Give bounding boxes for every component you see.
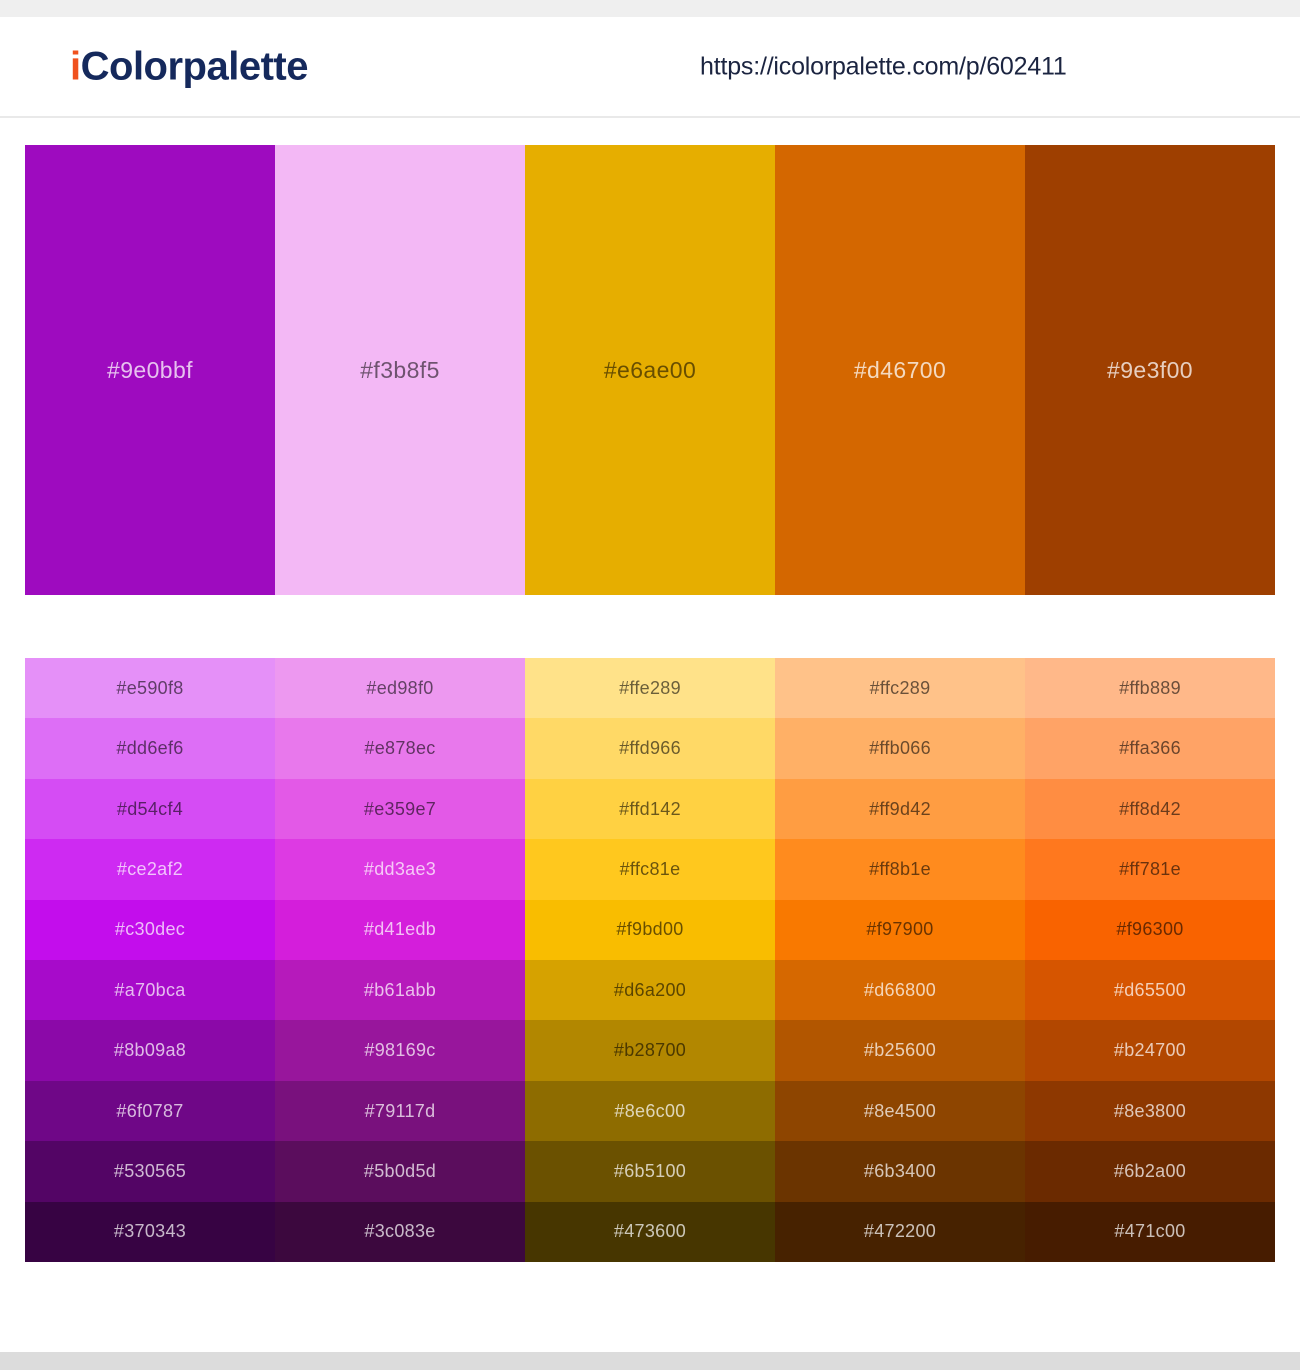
shade-column: #ffb889#ffa366#ff8d42#ff781e#f96300#d655… [1025,658,1275,1262]
shade-swatch[interactable]: #6b3400 [775,1141,1025,1201]
shade-hex-label: #d41edb [364,919,436,940]
shade-hex-label: #530565 [114,1161,186,1182]
shade-hex-label: #dd3ae3 [364,859,436,880]
shade-swatch[interactable]: #8b09a8 [25,1020,275,1080]
shade-hex-label: #ed98f0 [366,678,433,699]
shade-swatch[interactable]: #ffb066 [775,718,1025,778]
shade-swatch[interactable]: #e590f8 [25,658,275,718]
shade-swatch[interactable]: #d65500 [1025,960,1275,1020]
shade-hex-label: #8e3800 [1114,1101,1186,1122]
main-palette-swatches: #9e0bbf#f3b8f5#e6ae00#d46700#9e3f00 [25,145,1275,595]
shade-swatch[interactable]: #ff9d42 [775,779,1025,839]
shade-swatch[interactable]: #b61abb [275,960,525,1020]
shade-hex-label: #b24700 [1114,1040,1186,1061]
shade-hex-label: #ffb066 [869,738,931,759]
shade-column: #ffe289#ffd966#ffd142#ffc81e#f9bd00#d6a2… [525,658,775,1262]
shade-hex-label: #471c00 [1114,1221,1185,1242]
shade-hex-label: #f97900 [866,919,933,940]
shade-swatch[interactable]: #ce2af2 [25,839,275,899]
shade-swatch[interactable]: #ff8b1e [775,839,1025,899]
main-swatch-hex-label: #d46700 [854,357,946,384]
shade-column: #ffc289#ffb066#ff9d42#ff8b1e#f97900#d668… [775,658,1025,1262]
shade-hex-label: #6b2a00 [1114,1161,1186,1182]
shade-hex-label: #ffd142 [619,799,681,820]
shade-hex-label: #d6a200 [614,980,686,1001]
shade-hex-label: #ffb889 [1119,678,1181,699]
shade-swatch[interactable]: #f97900 [775,900,1025,960]
shade-hex-label: #d65500 [1114,980,1186,1001]
shade-swatch[interactable]: #dd3ae3 [275,839,525,899]
shade-swatch[interactable]: #473600 [525,1202,775,1262]
shade-hex-label: #ff8d42 [1119,799,1181,820]
shade-hex-label: #370343 [114,1221,186,1242]
shade-swatch[interactable]: #a70bca [25,960,275,1020]
logo-text: Colorpalette [81,44,308,88]
main-swatch-hex-label: #9e0bbf [107,357,193,384]
shade-hex-label: #d66800 [864,980,936,1001]
shade-swatch[interactable]: #370343 [25,1202,275,1262]
shade-swatch[interactable]: #ffc289 [775,658,1025,718]
shade-hex-label: #b28700 [614,1040,686,1061]
shade-hex-label: #ff781e [1119,859,1181,880]
shade-swatch[interactable]: #dd6ef6 [25,718,275,778]
shade-hex-label: #8e4500 [864,1101,936,1122]
shade-hex-label: #ce2af2 [117,859,183,880]
shade-swatch[interactable]: #8e3800 [1025,1081,1275,1141]
shade-swatch[interactable]: #ffd966 [525,718,775,778]
shade-swatch[interactable]: #ffa366 [1025,718,1275,778]
shade-swatch[interactable]: #98169c [275,1020,525,1080]
shade-hex-label: #ffc289 [870,678,931,699]
shade-hex-label: #6b5100 [614,1161,686,1182]
shade-hex-label: #dd6ef6 [116,738,183,759]
shade-swatch[interactable]: #471c00 [1025,1202,1275,1262]
shade-swatch[interactable]: #b24700 [1025,1020,1275,1080]
shade-hex-label: #a70bca [114,980,185,1001]
shade-swatch[interactable]: #b28700 [525,1020,775,1080]
shade-swatch[interactable]: #d6a200 [525,960,775,1020]
shade-swatch[interactable]: #6f0787 [25,1081,275,1141]
shade-swatch[interactable]: #e878ec [275,718,525,778]
shade-hex-label: #d54cf4 [117,799,183,820]
shade-swatch[interactable]: #5b0d5d [275,1141,525,1201]
shade-swatch[interactable]: #f96300 [1025,900,1275,960]
shade-swatch[interactable]: #ff8d42 [1025,779,1275,839]
shade-hex-label: #79117d [365,1101,436,1122]
shade-swatch[interactable]: #e359e7 [275,779,525,839]
shade-swatch[interactable]: #d54cf4 [25,779,275,839]
shade-column: #ed98f0#e878ec#e359e7#dd3ae3#d41edb#b61a… [275,658,525,1262]
shade-hex-label: #ff9d42 [869,799,931,820]
main-swatch[interactable]: #d46700 [775,145,1025,595]
shade-hex-label: #ffa366 [1119,738,1181,759]
shade-swatch[interactable]: #ffd142 [525,779,775,839]
shade-hex-label: #3c083e [364,1221,435,1242]
shade-hex-label: #b25600 [864,1040,936,1061]
shade-swatch[interactable]: #6b2a00 [1025,1141,1275,1201]
shade-swatch[interactable]: #79117d [275,1081,525,1141]
shade-swatch[interactable]: #ffb889 [1025,658,1275,718]
shade-hex-label: #8b09a8 [114,1040,186,1061]
shade-swatch[interactable]: #d41edb [275,900,525,960]
shade-column: #e590f8#dd6ef6#d54cf4#ce2af2#c30dec#a70b… [25,658,275,1262]
shade-swatch[interactable]: #8e4500 [775,1081,1025,1141]
bottom-decorative-strip [0,1352,1300,1370]
shade-swatch[interactable]: #b25600 [775,1020,1025,1080]
shade-hex-label: #473600 [614,1221,686,1242]
logo-accent-letter: i [70,44,81,88]
palette-url: https://icolorpalette.com/p/602411 [700,52,1067,81]
shade-hex-label: #98169c [364,1040,435,1061]
shade-swatch[interactable]: #c30dec [25,900,275,960]
shade-hex-label: #e359e7 [364,799,436,820]
shade-hex-label: #ff8b1e [869,859,931,880]
main-swatch[interactable]: #9e3f00 [1025,145,1275,595]
shade-swatch[interactable]: #ff781e [1025,839,1275,899]
shade-hex-label: #f96300 [1116,919,1183,940]
main-swatch[interactable]: #9e0bbf [25,145,275,595]
shade-swatch[interactable]: #ffc81e [525,839,775,899]
shade-hex-label: #8e6c00 [614,1101,685,1122]
top-decorative-strip [0,0,1300,17]
site-header: iColorpalette https://icolorpalette.com/… [0,17,1300,118]
shade-swatch[interactable]: #8e6c00 [525,1081,775,1141]
shade-hex-label: #ffc81e [620,859,681,880]
shade-swatch[interactable]: #6b5100 [525,1141,775,1201]
shade-hex-label: #5b0d5d [364,1161,436,1182]
shade-swatch[interactable]: #530565 [25,1141,275,1201]
shades-grid: #e590f8#dd6ef6#d54cf4#ce2af2#c30dec#a70b… [25,658,1275,1262]
shade-hex-label: #e590f8 [116,678,183,699]
main-swatch[interactable]: #e6ae00 [525,145,775,595]
shade-swatch[interactable]: #ffe289 [525,658,775,718]
shade-swatch[interactable]: #ed98f0 [275,658,525,718]
shade-swatch[interactable]: #f9bd00 [525,900,775,960]
shade-hex-label: #472200 [864,1221,936,1242]
shade-hex-label: #e878ec [364,738,435,759]
shade-hex-label: #ffe289 [619,678,681,699]
main-swatch-hex-label: #f3b8f5 [360,357,440,384]
shade-swatch[interactable]: #d66800 [775,960,1025,1020]
shade-hex-label: #c30dec [115,919,185,940]
shade-hex-label: #ffd966 [619,738,681,759]
main-swatch-hex-label: #9e3f00 [1107,357,1193,384]
shade-hex-label: #6f0787 [116,1101,183,1122]
shade-hex-label: #6b3400 [864,1161,936,1182]
shade-hex-label: #b61abb [364,980,436,1001]
shade-hex-label: #f9bd00 [616,919,683,940]
main-swatch[interactable]: #f3b8f5 [275,145,525,595]
shade-swatch[interactable]: #3c083e [275,1202,525,1262]
site-logo[interactable]: iColorpalette [70,44,308,89]
shade-swatch[interactable]: #472200 [775,1202,1025,1262]
main-swatch-hex-label: #e6ae00 [604,357,696,384]
